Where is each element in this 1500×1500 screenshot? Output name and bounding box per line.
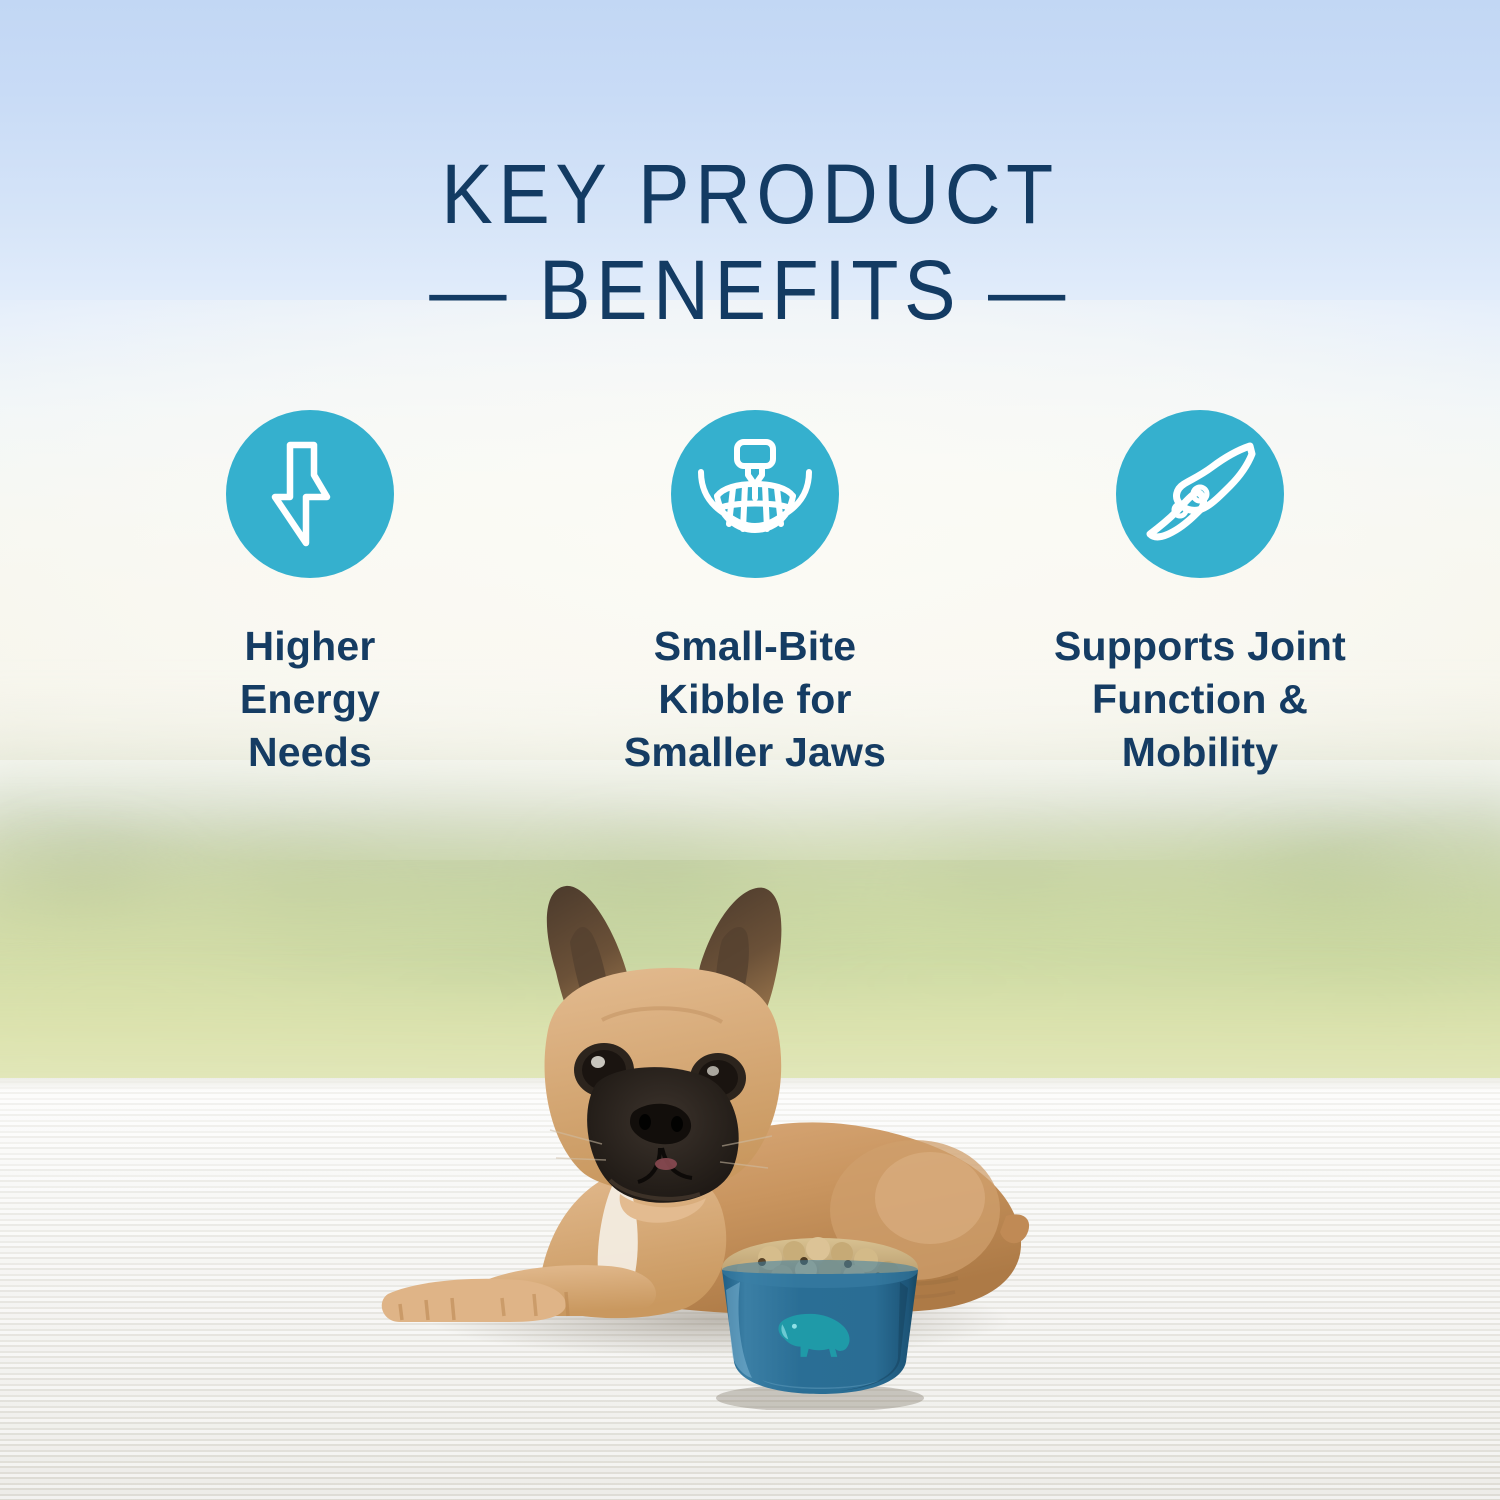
benefit-item-small-bite-kibble: Small-Bite Kibble for Smaller Jaws	[565, 410, 945, 779]
benefit-label: Small-Bite Kibble for Smaller Jaws	[624, 620, 886, 779]
benefit-icon-badge	[1116, 410, 1284, 578]
dog-jaw-teeth-icon	[693, 438, 817, 550]
lightning-bolt-icon	[265, 439, 355, 549]
page-title-line-1: KEY PRODUCT	[60, 146, 1440, 242]
benefit-item-higher-energy-needs: Higher Energy Needs	[120, 410, 500, 779]
benefit-label: Supports Joint Function & Mobility	[1054, 620, 1346, 779]
benefit-item-supports-joint-function: Supports Joint Function & Mobility	[1010, 410, 1390, 779]
benefit-label: Higher Energy Needs	[240, 620, 380, 779]
page-title-line-2: — BENEFITS —	[60, 242, 1440, 338]
benefits-row: Higher Energy Needs	[120, 410, 1390, 779]
benefit-icon-badge	[671, 410, 839, 578]
dog-food-bowl	[700, 1230, 940, 1410]
benefit-icon-badge	[226, 410, 394, 578]
bone-joint-icon	[1142, 436, 1258, 552]
page-title: KEY PRODUCT — BENEFITS —	[0, 146, 1500, 338]
